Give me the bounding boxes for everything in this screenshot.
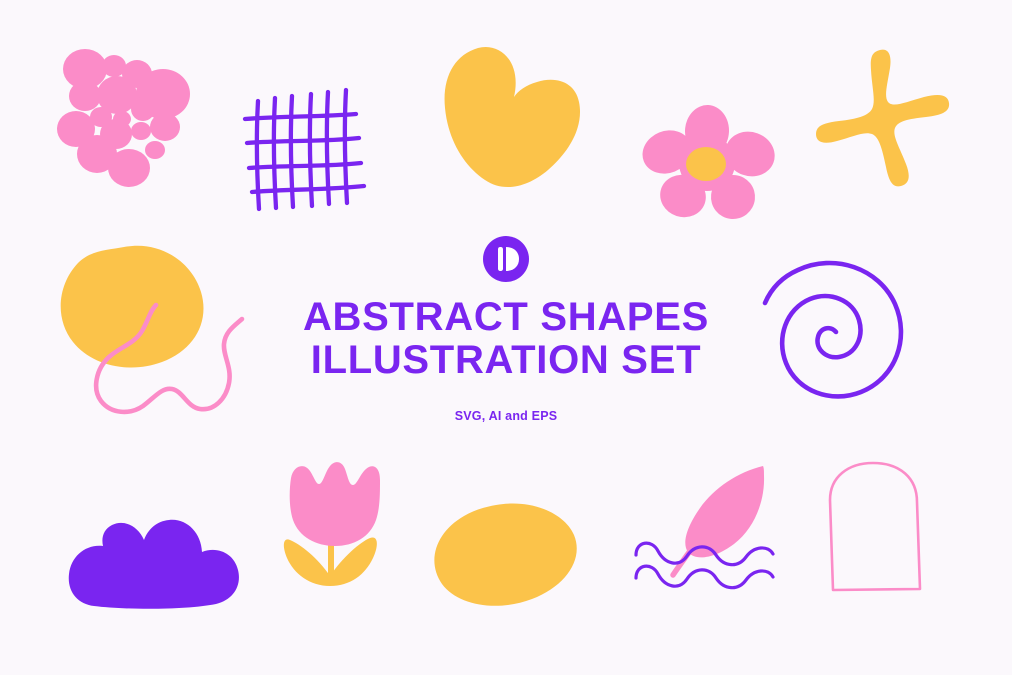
poster-title-line-2: ILLUSTRATION SET bbox=[0, 339, 1012, 382]
cloud-shape[interactable] bbox=[56, 498, 242, 624]
mesh-grid-shape[interactable] bbox=[236, 76, 372, 218]
five-petal-flower-shape[interactable] bbox=[638, 104, 778, 224]
heart-blob-shape[interactable] bbox=[436, 34, 588, 194]
arch-outline-shape[interactable] bbox=[820, 458, 944, 604]
tulip-flower-shape[interactable] bbox=[266, 458, 394, 598]
leaf-with-waves-shape[interactable] bbox=[622, 458, 794, 606]
circle-p-logo[interactable] bbox=[483, 236, 529, 282]
four-point-sparkle-shape[interactable] bbox=[812, 36, 964, 202]
dot-cluster-shape[interactable] bbox=[52, 38, 200, 190]
poster-title-line-1: ABSTRACT SHAPES bbox=[0, 296, 1012, 339]
illustration-poster: ABSTRACT SHAPES ILLUSTRATION SET SVG, AI… bbox=[0, 0, 1012, 675]
poster-subtitle: SVG, AI and EPS bbox=[0, 409, 1012, 423]
center-text-block: ABSTRACT SHAPES ILLUSTRATION SET SVG, AI… bbox=[0, 236, 1012, 423]
oval-blob-shape[interactable] bbox=[430, 502, 582, 612]
